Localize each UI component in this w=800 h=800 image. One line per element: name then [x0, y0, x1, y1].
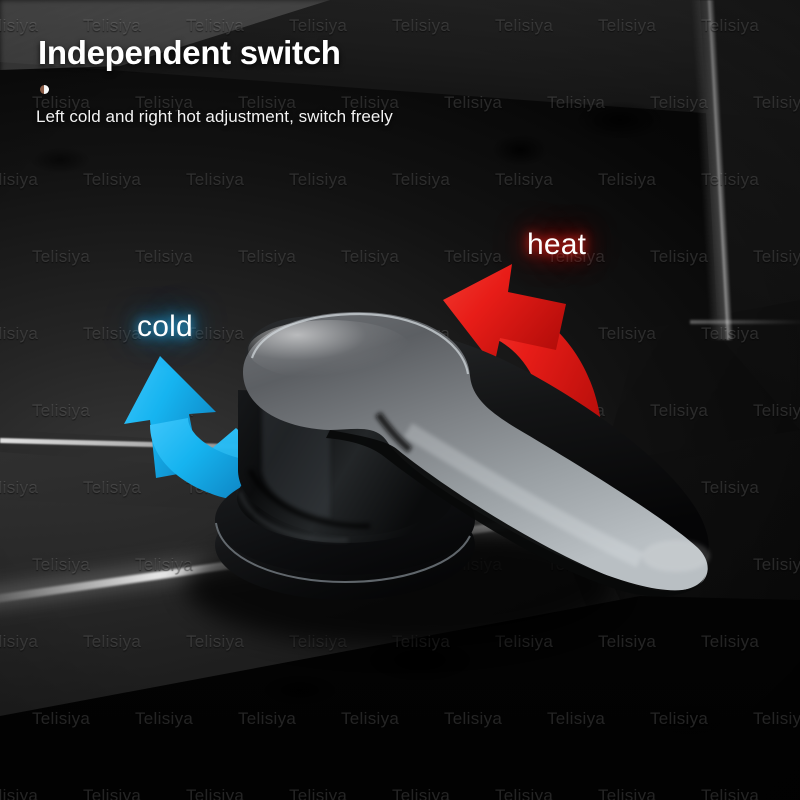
bullet-dot-icon	[40, 85, 49, 94]
callout-label-heat: heat	[527, 228, 586, 262]
page-title: Independent switch	[38, 36, 341, 71]
paddle-head-specular	[248, 320, 412, 380]
product-banner: TelisiyaTelisiyaTelisiyaTelisiyaTelisiya…	[0, 0, 800, 800]
paddle-tip-glint	[642, 540, 710, 572]
page-subtitle: Left cold and right hot adjustment, swit…	[36, 107, 393, 127]
callout-label-cold: cold	[137, 310, 193, 344]
